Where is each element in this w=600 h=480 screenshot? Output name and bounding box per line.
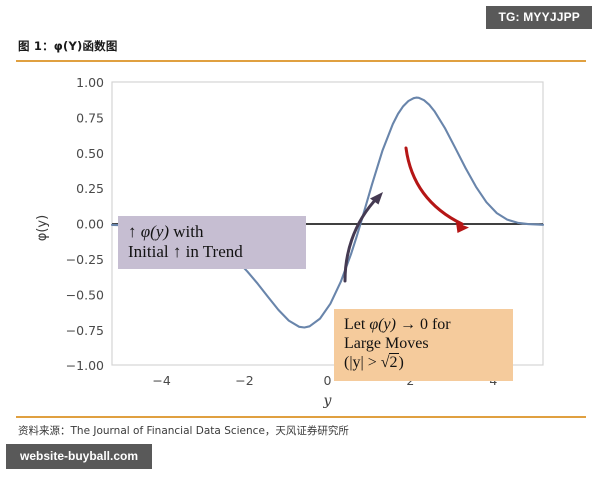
- chart-container: 1.00 0.75 0.50 0.25 0.00 −0.25 −0.50 −0.…: [0, 66, 600, 412]
- annotation-decay-to-zero: Let φ(y) → 0 for Large Moves (|y| > √2): [334, 309, 513, 381]
- annotation-decay-line2: Large Moves: [344, 335, 505, 354]
- x-axis-title: y: [323, 393, 333, 409]
- x-tick--2: −2: [235, 373, 253, 388]
- anno-orange-l3-suffix: ): [399, 354, 404, 371]
- anno-purple-l1-suffix: with: [169, 222, 203, 241]
- annotation-decay-line1: Let φ(y) → 0 for: [344, 316, 505, 335]
- anno-orange-l1-symbol: φ(y): [369, 316, 396, 333]
- anno-purple-l1-prefix: ↑: [128, 222, 141, 241]
- y-tick--1.00: −1.00: [66, 358, 104, 373]
- tg-watermark-badge: TG: MYYJJPP: [486, 6, 592, 29]
- caption-divider-top: [16, 60, 586, 62]
- sqrt-icon: √2: [381, 354, 399, 373]
- x-tick-0: 0: [324, 373, 332, 388]
- annotation-decay-line3: (|y| > √2): [344, 354, 505, 373]
- y-tick--0.25: −0.25: [66, 252, 104, 267]
- caption-divider-bottom: [16, 416, 586, 418]
- website-watermark-badge: website-buyball.com: [6, 444, 152, 469]
- y-tick-1.00: 1.00: [76, 75, 104, 90]
- anno-orange-l1-suffix: → 0 for: [396, 316, 451, 333]
- y-tick-0.25: 0.25: [76, 181, 104, 196]
- anno-orange-l1-prefix: Let: [344, 316, 369, 333]
- anno-orange-l3-prefix: (|y| >: [344, 354, 381, 371]
- y-tick-0.00: 0.00: [76, 217, 104, 232]
- y-axis-ticklabels: 1.00 0.75 0.50 0.25 0.00 −0.25 −0.50 −0.…: [66, 75, 104, 373]
- annotation-rising-phi-line2: Initial ↑ in Trend: [128, 242, 298, 262]
- y-tick--0.75: −0.75: [66, 323, 104, 338]
- y-tick--0.50: −0.50: [66, 287, 104, 302]
- y-tick-0.75: 0.75: [76, 110, 104, 125]
- y-axis-title: φ(y): [35, 215, 50, 241]
- anno-purple-l1-symbol: φ(y): [141, 222, 169, 241]
- source-note: 资料来源：The Journal of Financial Data Scien…: [18, 423, 349, 438]
- figure-caption: 图 1：φ(Y)函数图: [18, 38, 118, 54]
- x-tick--4: −4: [152, 373, 170, 388]
- annotation-rising-phi-line1: ↑ φ(y) with: [128, 222, 298, 242]
- anno-orange-l3-radicand: 2: [389, 353, 399, 371]
- annotation-rising-phi: ↑ φ(y) with Initial ↑ in Trend: [118, 216, 306, 269]
- y-tick-0.50: 0.50: [76, 146, 104, 161]
